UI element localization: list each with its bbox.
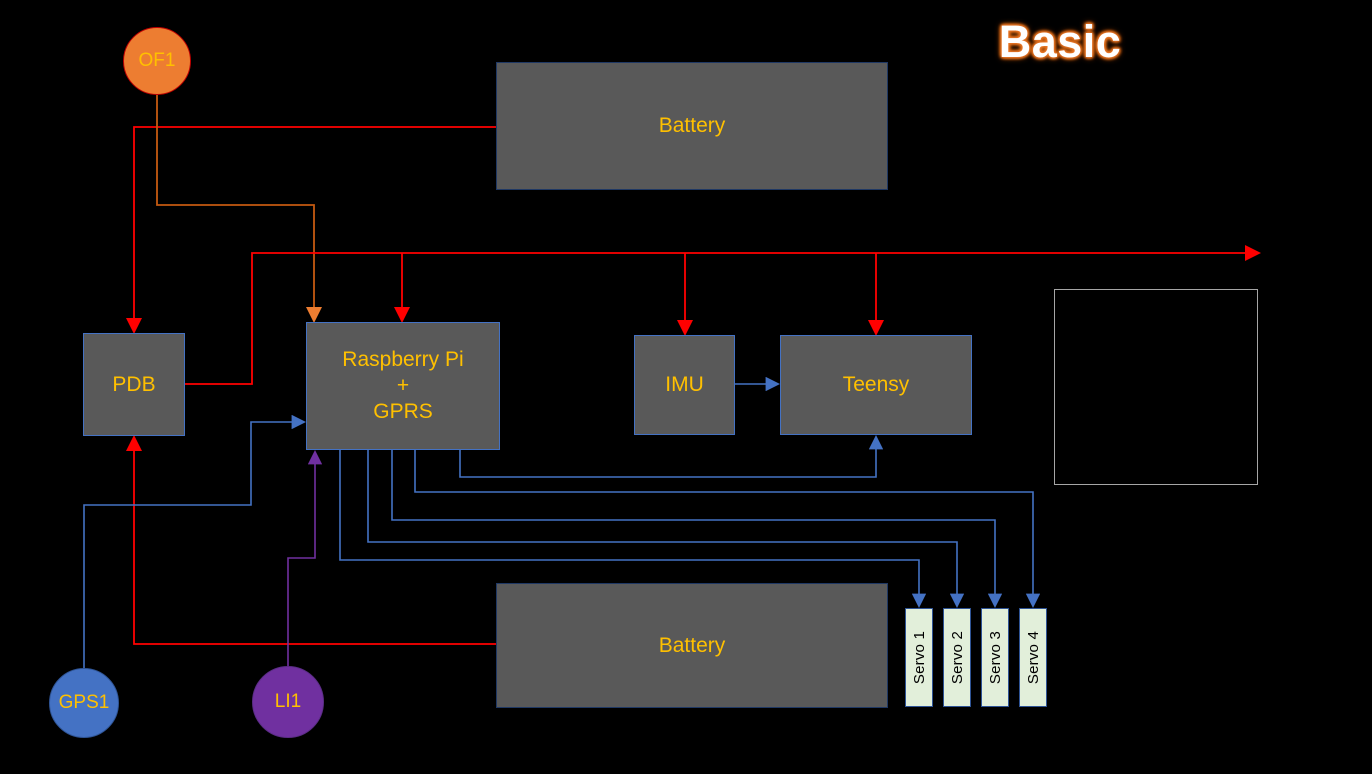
node-raspberry-pi-label-line1: Raspberry Pi [342,347,463,373]
node-battery-top-label: Battery [659,114,726,138]
node-raspberry-pi-label-line3: GPRS [342,399,463,425]
node-servo-2[interactable]: Servo 2 [943,608,971,707]
wire-rpi-to-servo2 [368,450,957,600]
node-raspberry-pi[interactable]: Raspberry Pi + GPRS [306,322,500,450]
node-servo-3-label: Servo 3 [987,631,1004,684]
node-servo-2-label: Servo 2 [949,631,966,684]
node-servo-1-label: Servo 1 [911,631,928,684]
node-li1-label: LI1 [275,691,301,713]
node-servo-4-label: Servo 4 [1025,631,1042,684]
node-battery-bottom-label: Battery [659,634,726,658]
wire-rpi-to-servo3 [392,450,995,600]
node-imu[interactable]: IMU [634,335,735,435]
node-battery-bottom[interactable]: Battery [496,583,888,708]
node-gps1[interactable]: GPS1 [49,668,119,738]
wire-rpi-to-servo1 [340,450,919,600]
diagram-canvas: Basic OF1 Battery PDB Raspberry Pi + GPR… [0,0,1372,774]
node-of1[interactable]: OF1 [123,27,191,95]
node-servo-4[interactable]: Servo 4 [1019,608,1047,707]
wire-rpi-to-servo4 [415,450,1033,600]
node-teensy-label: Teensy [843,373,910,397]
node-gps1-label: GPS1 [59,692,110,714]
node-of1-label: OF1 [139,50,176,72]
node-empty-placeholder[interactable] [1054,289,1258,485]
wire-battery-top-to-pdb [134,127,496,325]
wire-gps1-to-rpi [84,422,298,668]
page-title: Basic [975,16,1145,68]
node-raspberry-pi-label-line2: + [342,373,463,399]
node-pdb-label: PDB [112,373,155,397]
node-pdb[interactable]: PDB [83,333,185,436]
node-servo-1[interactable]: Servo 1 [905,608,933,707]
wire-li1-to-rpi [288,458,315,666]
node-imu-label: IMU [665,373,704,397]
node-li1[interactable]: LI1 [252,666,324,738]
node-servo-3[interactable]: Servo 3 [981,608,1009,707]
node-battery-top[interactable]: Battery [496,62,888,190]
wire-rpi-to-teensy [460,443,876,477]
node-teensy[interactable]: Teensy [780,335,972,435]
